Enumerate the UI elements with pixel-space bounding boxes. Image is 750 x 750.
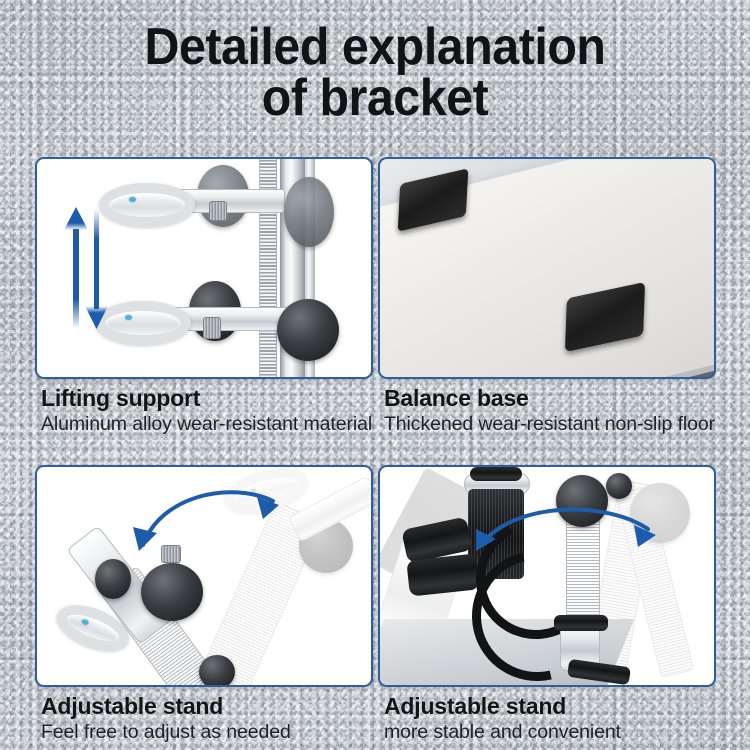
infographic-page: Detailed explanation of bracket — [0, 0, 750, 750]
page-title: Detailed explanation of bracket — [26, 22, 724, 124]
caption-title: Lifting support — [41, 385, 386, 412]
pivot-knob-large — [141, 563, 203, 621]
product-illustration-adjustable-stand-right — [380, 467, 714, 685]
feature-cell-adjustable-stand-right: Adjustable stand more stable and conveni… — [378, 465, 716, 687]
caption-subtitle: Aluminum alloy wear-resistant material — [41, 413, 386, 435]
caption-lifting-support: Lifting support Aluminum alloy wear-resi… — [41, 385, 386, 435]
feature-grid: Lifting support Aluminum alloy wear-resi… — [35, 157, 716, 727]
upper-lock-knob — [284, 177, 334, 247]
feature-cell-balance-base: Balance base Thickened wear-resistant no… — [378, 157, 716, 379]
microscope-top-cap — [470, 467, 522, 481]
page-title-line-1: Detailed explanation — [26, 22, 724, 73]
caption-adjustable-stand-right: Adjustable stand more stable and conveni… — [384, 693, 729, 743]
upper-thumb-screw — [209, 201, 227, 221]
product-illustration-balance-base — [380, 159, 714, 377]
caption-title: Adjustable stand — [384, 693, 729, 720]
rotate-direction-arrow-icon — [121, 475, 291, 555]
feature-cell-lifting-support: Lifting support Aluminum alloy wear-resi… — [35, 157, 373, 379]
mount-clamp — [554, 615, 608, 631]
pivot-knob-small — [95, 559, 131, 599]
caption-balance-base: Balance base Thickened wear-resistant no… — [384, 385, 729, 435]
caption-title: Balance base — [384, 385, 729, 412]
caption-subtitle: Thickened wear-resistant non-slip floor — [384, 413, 729, 435]
product-illustration-adjustable-stand-left — [37, 467, 371, 685]
photo-panel-lifting-support[interactable] — [35, 157, 373, 379]
photo-panel-adjustable-stand-right[interactable] — [378, 465, 716, 687]
bottom-knob — [199, 655, 235, 687]
caption-subtitle: more stable and convenient — [384, 721, 729, 743]
lower-lock-knob — [277, 299, 339, 361]
caption-adjustable-stand-left: Adjustable stand Feel free to adjust as … — [41, 693, 386, 743]
column-top-knob — [606, 473, 632, 499]
caption-subtitle: Feel free to adjust as needed — [41, 721, 386, 743]
photo-panel-balance-base[interactable] — [378, 157, 716, 379]
upper-clamp-ring — [99, 183, 195, 227]
photo-panel-adjustable-stand-left[interactable] — [35, 465, 373, 687]
lift-direction-arrow-icon — [63, 203, 113, 333]
caption-title: Adjustable stand — [41, 693, 386, 720]
product-illustration-lifting-support — [37, 159, 371, 377]
feature-cell-adjustable-stand-left: Adjustable stand Feel free to adjust as … — [35, 465, 373, 687]
page-title-line-2: of bracket — [26, 73, 724, 124]
lower-thumb-screw — [203, 317, 221, 339]
rotate-direction-arrow-icon — [466, 499, 666, 563]
